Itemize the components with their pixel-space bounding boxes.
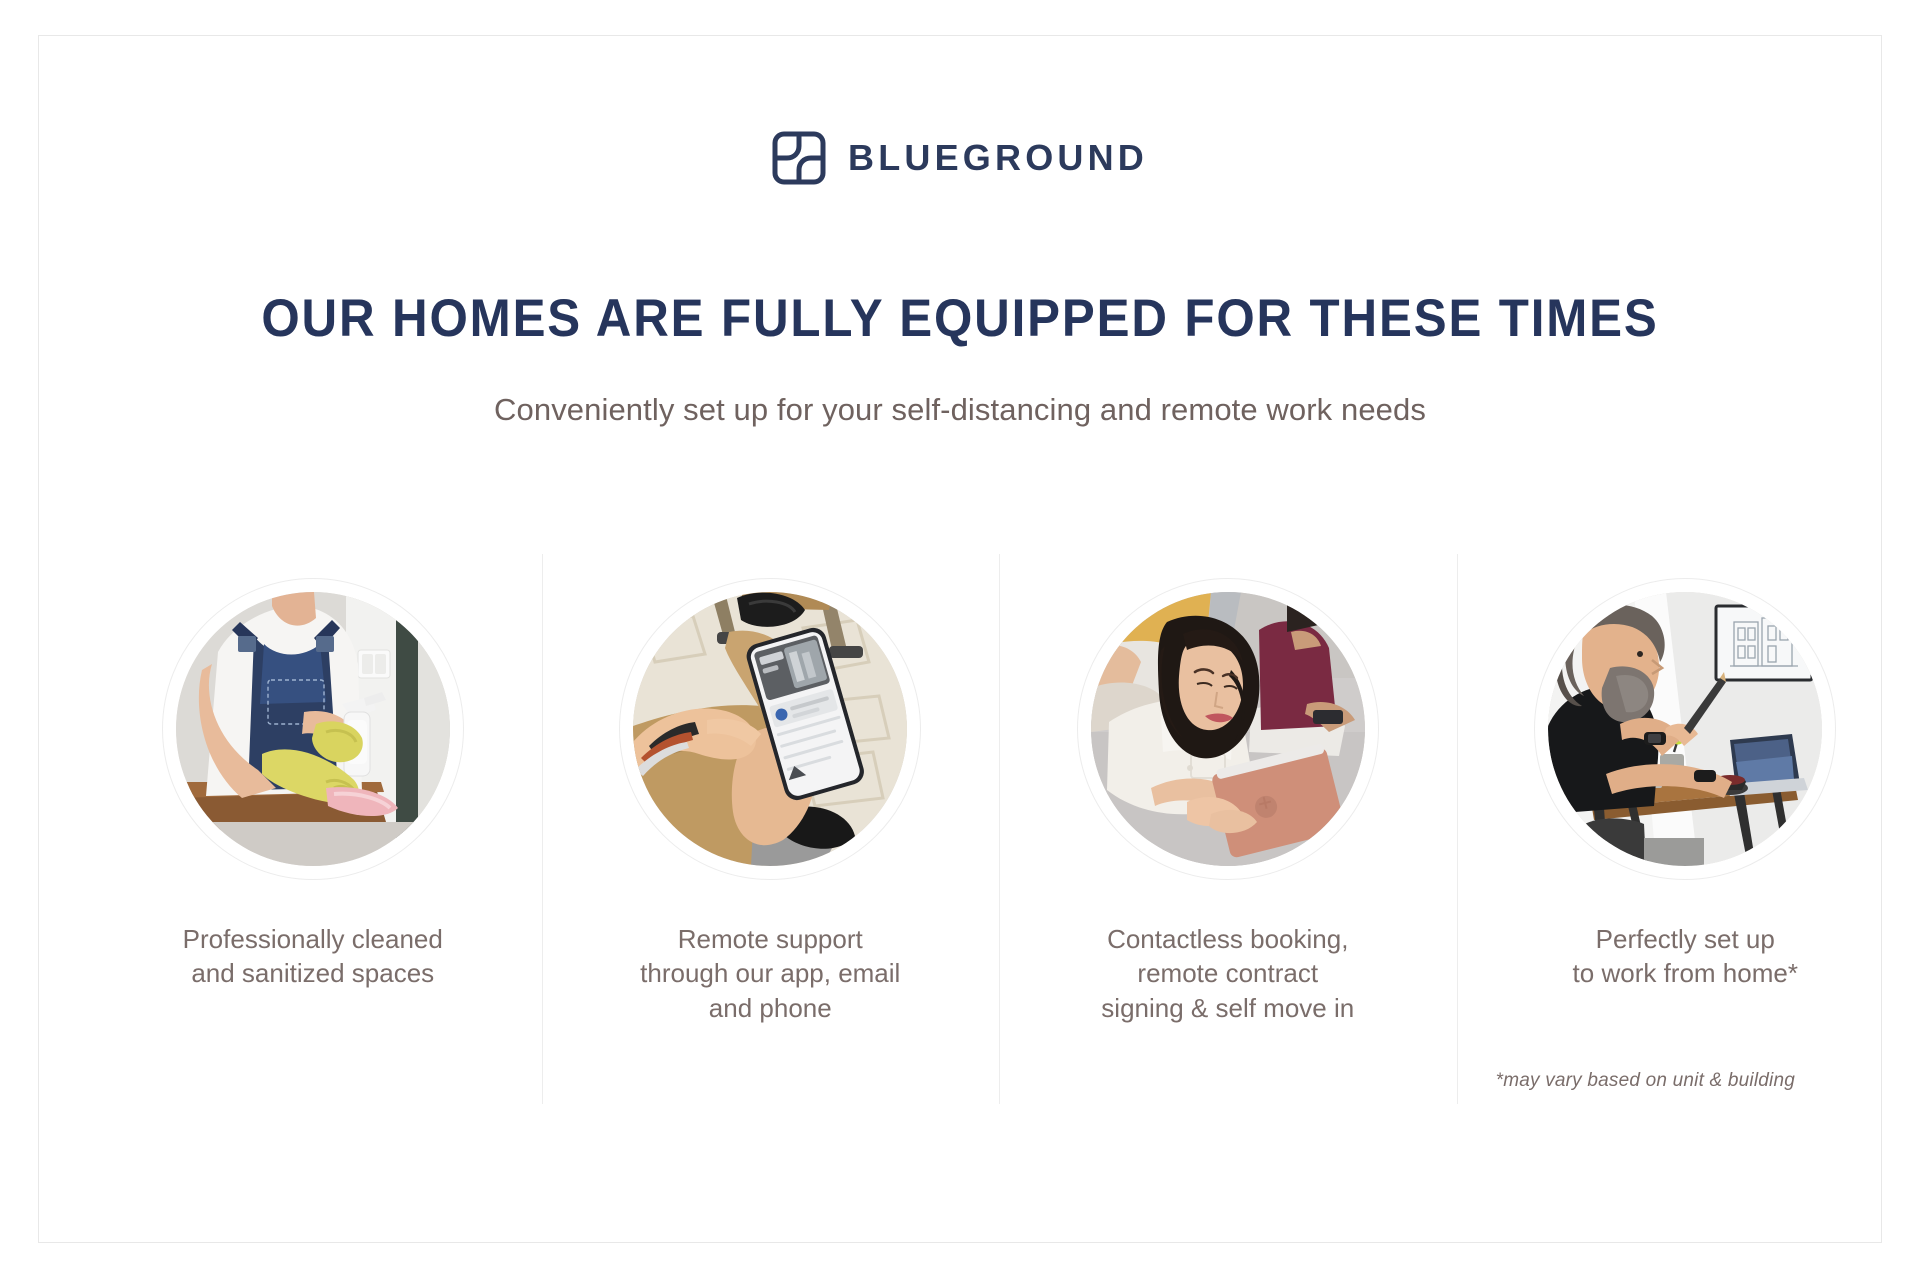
feature-card-remote-support: Remote support through our app, email an… (542, 554, 1000, 1104)
page-subtitle: Conveniently set up for your self-distan… (39, 392, 1881, 428)
content-frame: BLUEGROUND OUR HOMES ARE FULLY EQUIPPED … (38, 35, 1882, 1243)
feature-caption: Professionally cleaned and sanitized spa… (148, 922, 478, 991)
feature-photo-contactless-booking (1091, 592, 1365, 866)
infographic-page: BLUEGROUND OUR HOMES ARE FULLY EQUIPPED … (0, 0, 1920, 1280)
footnote-disclaimer: *may vary based on unit & building (1496, 1070, 1795, 1092)
page-title: OUR HOMES ARE FULLY EQUIPPED FOR THESE T… (103, 288, 1816, 349)
feature-photo-work-from-home (1548, 592, 1822, 866)
brand-name: BLUEGROUND (848, 140, 1148, 176)
blueground-square-mark-icon (772, 131, 826, 185)
feature-card-contactless-booking: Contactless booking, remote contract sig… (999, 554, 1457, 1104)
feature-card-cleaning: Professionally cleaned and sanitized spa… (84, 554, 542, 1104)
feature-caption: Remote support through our app, email an… (605, 922, 935, 1025)
photo-ring (1534, 578, 1836, 880)
feature-photo-cleaning (176, 592, 450, 866)
photo-ring (1077, 578, 1379, 880)
feature-caption: Contactless booking, remote contract sig… (1063, 922, 1393, 1025)
photo-ring (619, 578, 921, 880)
feature-columns: Professionally cleaned and sanitized spa… (84, 554, 1914, 1104)
feature-caption: Perfectly set up to work from home* (1520, 922, 1850, 991)
feature-photo-remote-support (633, 592, 907, 866)
photo-ring (162, 578, 464, 880)
brand-lockup: BLUEGROUND (39, 131, 1881, 185)
feature-card-work-from-home: Perfectly set up to work from home* (1457, 554, 1915, 1104)
